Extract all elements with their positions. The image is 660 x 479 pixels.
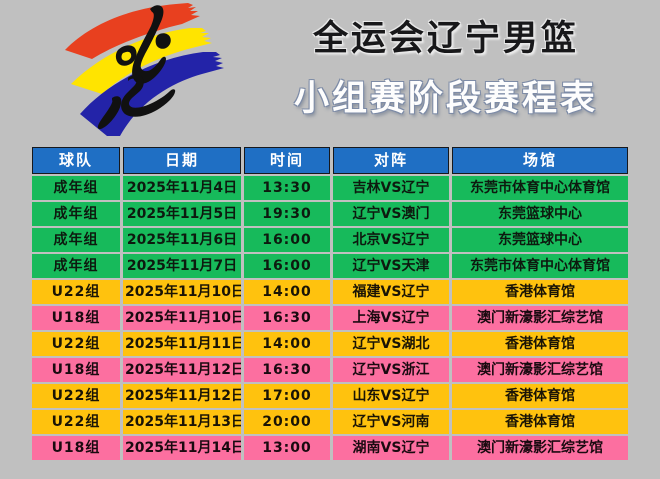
cell-team: 成年组 <box>32 228 120 252</box>
cell-team: 成年组 <box>32 254 120 278</box>
table-row: 成年组2025年11月6日16:00北京VS辽宁东莞篮球中心 <box>32 228 628 252</box>
cell-time: 20:00 <box>244 410 330 434</box>
cell-match: 辽宁VS湖北 <box>333 332 449 356</box>
cell-time: 14:00 <box>244 332 330 356</box>
cell-match: 辽宁VS天津 <box>333 254 449 278</box>
table-row: U22组2025年11月12日17:00山东VS辽宁香港体育馆 <box>32 384 628 408</box>
table-row: U22组2025年11月13日20:00辽宁VS河南香港体育馆 <box>32 410 628 434</box>
cell-team: U22组 <box>32 384 120 408</box>
poster-titles: 全运会辽宁男篮 小组赛阶段赛程表 <box>236 4 656 138</box>
cell-time: 16:00 <box>244 254 330 278</box>
column-header-team: 球队 <box>32 147 120 174</box>
column-header-date: 日期 <box>123 147 241 174</box>
cell-date: 2025年11月4日 <box>123 176 241 200</box>
table-row: 成年组2025年11月7日16:00辽宁VS天津东莞市体育中心体育馆 <box>32 254 628 278</box>
cell-team: U18组 <box>32 358 120 382</box>
table-row: 成年组2025年11月5日19:30辽宁VS澳门东莞篮球中心 <box>32 202 628 226</box>
table-header: 球队 日期 时间 对阵 场馆 <box>32 147 628 174</box>
column-header-time: 时间 <box>244 147 330 174</box>
column-header-match: 对阵 <box>333 147 449 174</box>
cell-venue: 东莞市体育中心体育馆 <box>452 176 628 200</box>
schedule-table: 球队 日期 时间 对阵 场馆 成年组2025年11月4日13:30吉林VS辽宁东… <box>29 145 631 462</box>
cell-team: U22组 <box>32 280 120 304</box>
table-row: U18组2025年11月12日16:30辽宁VS浙江澳门新濠影汇综艺馆 <box>32 358 628 382</box>
page-subtitle: 小组赛阶段赛程表 <box>236 70 656 121</box>
cell-venue: 澳门新濠影汇综艺馆 <box>452 306 628 330</box>
cell-team: U22组 <box>32 410 120 434</box>
cell-match: 辽宁VS浙江 <box>333 358 449 382</box>
cell-venue: 香港体育馆 <box>452 280 628 304</box>
cell-date: 2025年11月5日 <box>123 202 241 226</box>
cell-date: 2025年11月13日 <box>123 410 241 434</box>
cell-date: 2025年11月12日 <box>123 358 241 382</box>
cell-venue: 澳门新濠影汇综艺馆 <box>452 358 628 382</box>
cell-match: 上海VS辽宁 <box>333 306 449 330</box>
cell-time: 16:00 <box>244 228 330 252</box>
cell-date: 2025年11月12日 <box>123 384 241 408</box>
table-row: U22组2025年11月10日14:00福建VS辽宁香港体育馆 <box>32 280 628 304</box>
cell-match: 辽宁VS河南 <box>333 410 449 434</box>
cell-match: 湖南VS辽宁 <box>333 436 449 460</box>
table-row: U18组2025年11月14日13:00湖南VS辽宁澳门新濠影汇综艺馆 <box>32 436 628 460</box>
cell-team: U18组 <box>32 436 120 460</box>
table-body: 成年组2025年11月4日13:30吉林VS辽宁东莞市体育中心体育馆成年组202… <box>32 176 628 460</box>
table-row: 成年组2025年11月4日13:30吉林VS辽宁东莞市体育中心体育馆 <box>32 176 628 200</box>
cell-venue: 东莞市体育中心体育馆 <box>452 254 628 278</box>
table-row: U22组2025年11月11日14:00辽宁VS湖北香港体育馆 <box>32 332 628 356</box>
cell-venue: 香港体育馆 <box>452 332 628 356</box>
cell-date: 2025年11月11日 <box>123 332 241 356</box>
cell-time: 16:30 <box>244 358 330 382</box>
page-title: 全运会辽宁男篮 <box>236 10 656 61</box>
cell-time: 13:00 <box>244 436 330 460</box>
table-row: U18组2025年11月10日16:30上海VS辽宁澳门新濠影汇综艺馆 <box>32 306 628 330</box>
table-header-row: 球队 日期 时间 对阵 场馆 <box>32 147 628 174</box>
cell-date: 2025年11月7日 <box>123 254 241 278</box>
cell-date: 2025年11月6日 <box>123 228 241 252</box>
cell-team: 成年组 <box>32 202 120 226</box>
cell-time: 14:00 <box>244 280 330 304</box>
cell-time: 19:30 <box>244 202 330 226</box>
cell-venue: 香港体育馆 <box>452 410 628 434</box>
cell-venue: 香港体育馆 <box>452 384 628 408</box>
cell-match: 辽宁VS澳门 <box>333 202 449 226</box>
cell-team: U22组 <box>32 332 120 356</box>
cell-team: U18组 <box>32 306 120 330</box>
cell-venue: 东莞篮球中心 <box>452 228 628 252</box>
cell-time: 16:30 <box>244 306 330 330</box>
cell-time: 13:30 <box>244 176 330 200</box>
cell-venue: 东莞篮球中心 <box>452 202 628 226</box>
cell-time: 17:00 <box>244 384 330 408</box>
cell-date: 2025年11月14日 <box>123 436 241 460</box>
column-header-venue: 场馆 <box>452 147 628 174</box>
cell-venue: 澳门新濠影汇综艺馆 <box>452 436 628 460</box>
liaoning-basketball-logo <box>60 2 235 138</box>
poster-header: 全运会辽宁男篮 小组赛阶段赛程表 <box>0 0 660 140</box>
logo-brush-strokes <box>65 3 224 136</box>
cell-date: 2025年11月10日 <box>123 306 241 330</box>
cell-match: 吉林VS辽宁 <box>333 176 449 200</box>
cell-match: 福建VS辽宁 <box>333 280 449 304</box>
cell-match: 北京VS辽宁 <box>333 228 449 252</box>
cell-date: 2025年11月10日 <box>123 280 241 304</box>
cell-match: 山东VS辽宁 <box>333 384 449 408</box>
cell-team: 成年组 <box>32 176 120 200</box>
